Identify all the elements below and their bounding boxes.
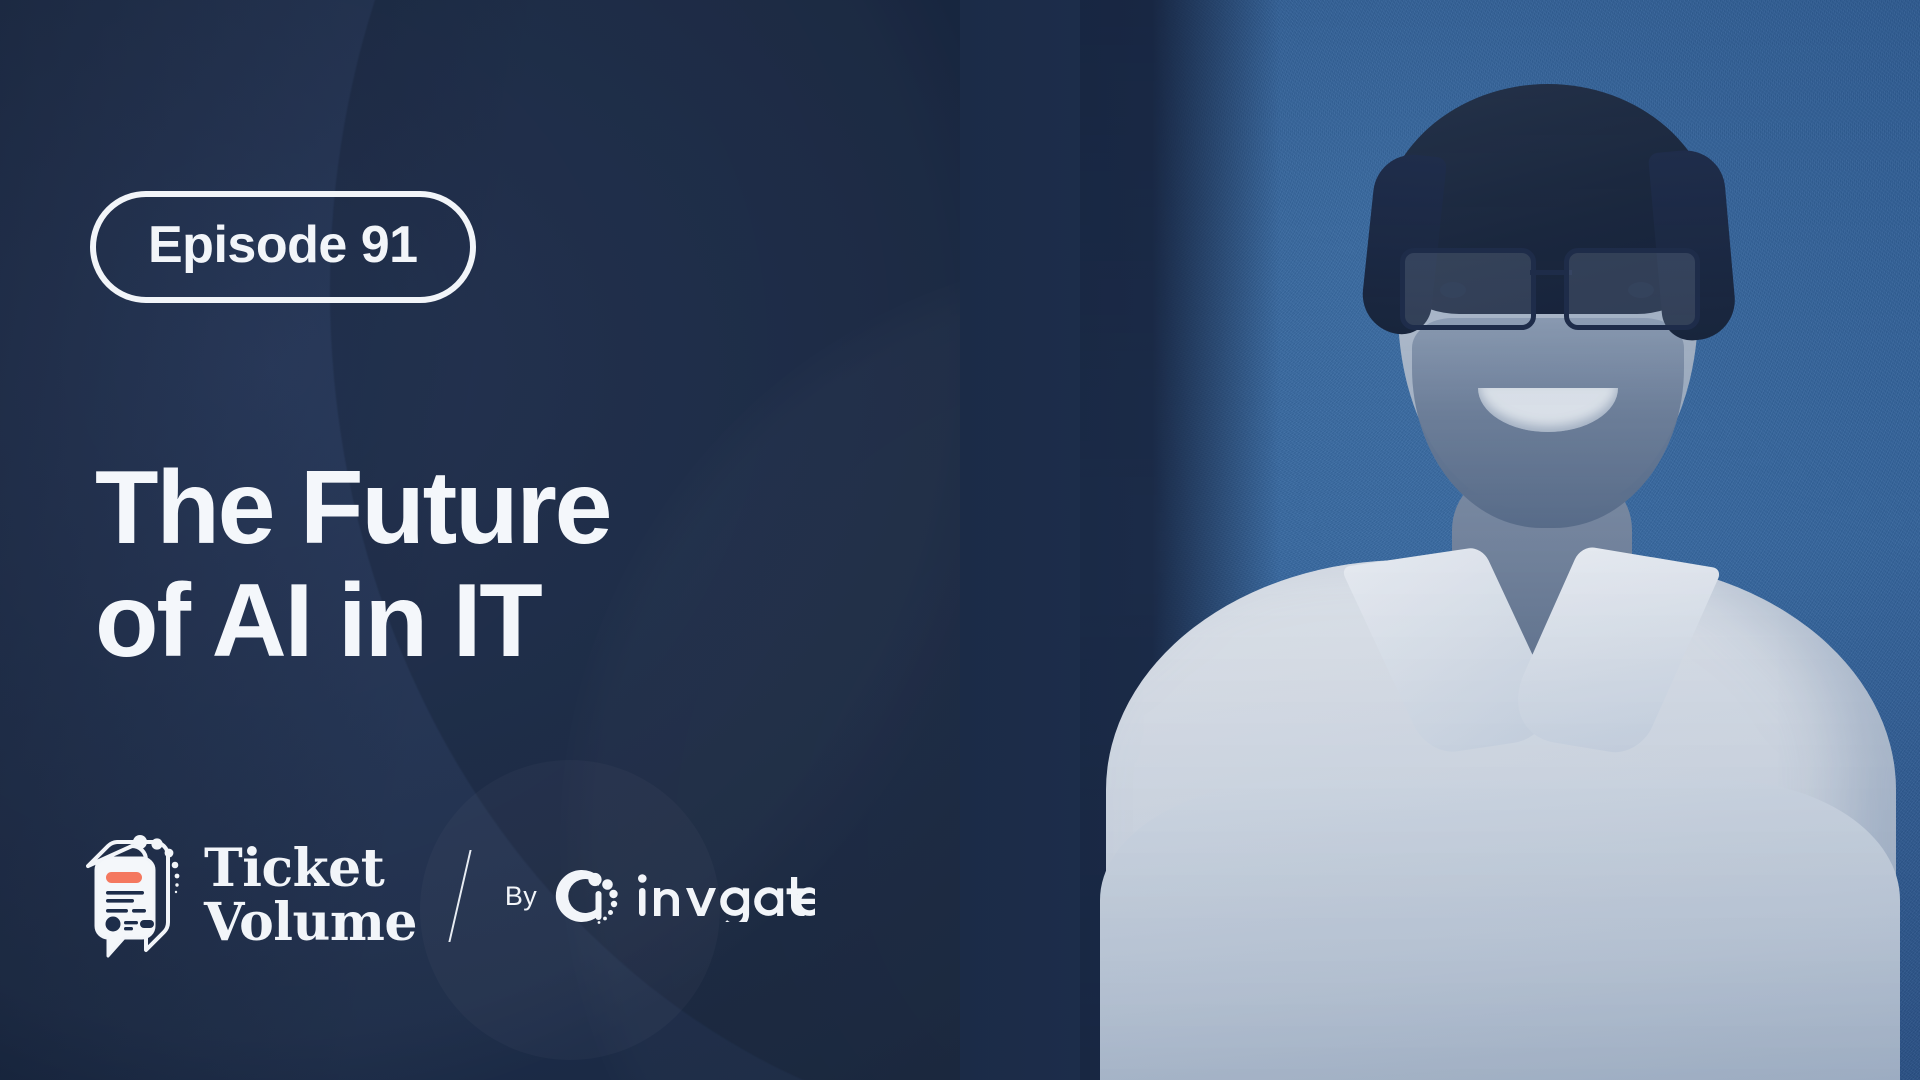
- guest-photo-panel: [960, 0, 1920, 1080]
- ticket-volume-logo: Ticket Volume: [78, 830, 417, 962]
- glasses-lens-right: [1564, 248, 1700, 330]
- ticket-speech-bubble-icon: [78, 830, 182, 962]
- invgate-g-icon: [555, 864, 619, 928]
- footer-brand-lockup: Ticket Volume By: [78, 830, 815, 962]
- glasses-lens-left: [1400, 248, 1536, 330]
- episode-title: The Future of AI in IT: [95, 452, 610, 679]
- invgate-wordmark: [637, 870, 815, 922]
- portrait-glasses: [1392, 248, 1708, 324]
- cover-content: Episode 91 The Future of AI in IT: [95, 0, 895, 1080]
- guest-portrait: [1080, 0, 1920, 1080]
- episode-number-badge: Episode 91: [90, 191, 476, 303]
- invgate-lockup: By: [505, 864, 815, 928]
- episode-cover-canvas: Episode 91 The Future of AI in IT: [0, 0, 1920, 1080]
- lockup-divider: [448, 850, 471, 942]
- portrait-crossed-arms: [1100, 780, 1900, 1080]
- by-label: By: [505, 881, 537, 912]
- ticket-volume-wordmark: Ticket Volume: [204, 842, 417, 950]
